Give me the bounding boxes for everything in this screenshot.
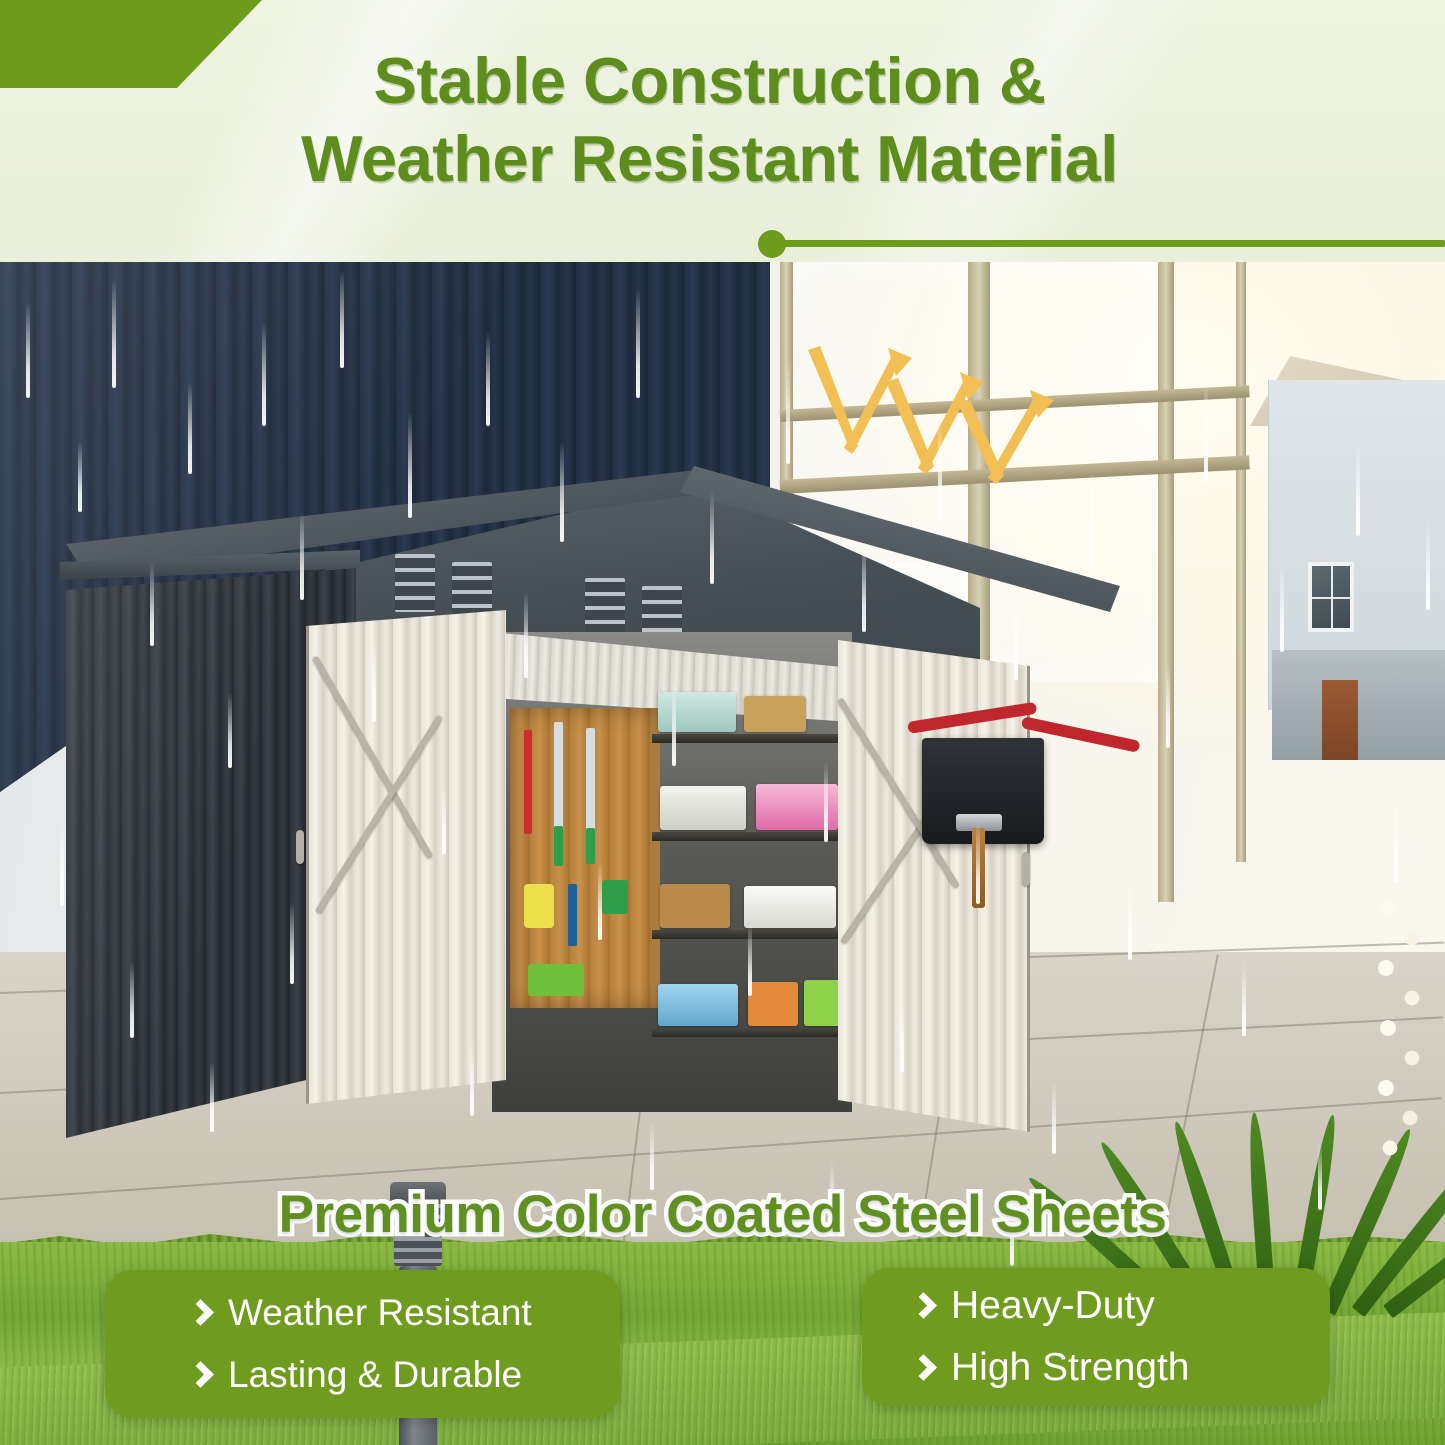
window-mullion-vertical: [1236, 262, 1246, 862]
garden-tool-red: [524, 730, 532, 834]
loppers-tool: [554, 722, 563, 840]
title-line-2: Weather Resistant Material: [0, 120, 1419, 198]
feature-box-right: Heavy-Duty High Strength: [862, 1268, 1330, 1406]
yucca-flower-spike: [1366, 882, 1432, 1182]
wooden-crate: [748, 982, 798, 1026]
feature-item: Lasting & Durable: [191, 1344, 620, 1406]
storage-bin-pink: [756, 784, 838, 830]
neighbour-house-window: [1308, 562, 1354, 632]
door-handle-right[interactable]: [1022, 852, 1030, 886]
feature-label: Lasting & Durable: [228, 1353, 522, 1397]
feature-label: Weather Resistant: [228, 1291, 532, 1335]
feature-item: High Strength: [914, 1337, 1330, 1399]
neighbour-house-porch: [1272, 650, 1445, 760]
hand-trowel: [602, 880, 628, 914]
door-diagonal-brace: [314, 715, 442, 915]
metal-storage-shed: [60, 382, 1120, 1172]
storage-caddy-green: [528, 964, 584, 996]
cardboard-box: [660, 884, 730, 928]
shelf: [652, 930, 852, 939]
feature-label: High Strength: [951, 1346, 1189, 1390]
garden-spade-grip: [586, 828, 595, 864]
title-underline-rule: [770, 240, 1445, 247]
door-handle-left[interactable]: [296, 830, 304, 864]
shed-vent-louver: [395, 554, 435, 612]
chevron-right-icon: [191, 1362, 208, 1389]
shed-door-left[interactable]: [306, 610, 506, 1104]
loppers-grip: [554, 826, 563, 866]
storage-bin-clear: [658, 692, 736, 732]
shed-vent-louver: [452, 562, 492, 620]
window-mullion-vertical: [1158, 262, 1174, 902]
shelf: [652, 1028, 852, 1037]
pegboard-wood-panel: [510, 708, 660, 1008]
hammer-handle: [972, 828, 985, 908]
scene-caption: Premium Color Coated Steel Sheets: [0, 1185, 1445, 1245]
work-gloves: [524, 884, 554, 928]
garden-spade: [586, 728, 595, 840]
shelf: [652, 832, 852, 841]
title-line-1: Stable Construction &: [0, 42, 1419, 120]
shelf: [652, 734, 852, 743]
neighbour-house-door: [1322, 680, 1358, 760]
header-banner: Stable Construction & Weather Resistant …: [0, 0, 1445, 262]
uv-ray-arrows-icon: [800, 342, 1080, 492]
product-feature-poster: Stable Construction & Weather Resistant …: [0, 0, 1445, 1445]
chevron-right-icon: [914, 1355, 931, 1382]
storage-bin-blue: [658, 984, 738, 1026]
feature-item: Heavy-Duty: [914, 1275, 1330, 1337]
cardboard-box: [744, 696, 806, 732]
chevron-right-icon: [191, 1300, 208, 1327]
feature-label: Heavy-Duty: [951, 1284, 1155, 1328]
shed-vent-louver: [585, 578, 625, 636]
yucca-plant: [1160, 882, 1445, 1312]
shed-interior: [492, 632, 852, 1112]
storage-shelving-unit: [652, 692, 852, 1112]
feature-box-left: Weather Resistant Lasting & Durable: [105, 1270, 620, 1418]
screwdriver: [568, 884, 577, 946]
chevron-right-icon: [914, 1293, 931, 1320]
feature-item: Weather Resistant: [191, 1282, 620, 1344]
storage-bin-white: [744, 886, 836, 928]
page-title: Stable Construction & Weather Resistant …: [0, 42, 1445, 198]
product-photo-scene: Premium Color Coated Steel Sheets Weathe…: [0, 262, 1445, 1445]
storage-bin-white: [660, 786, 746, 830]
